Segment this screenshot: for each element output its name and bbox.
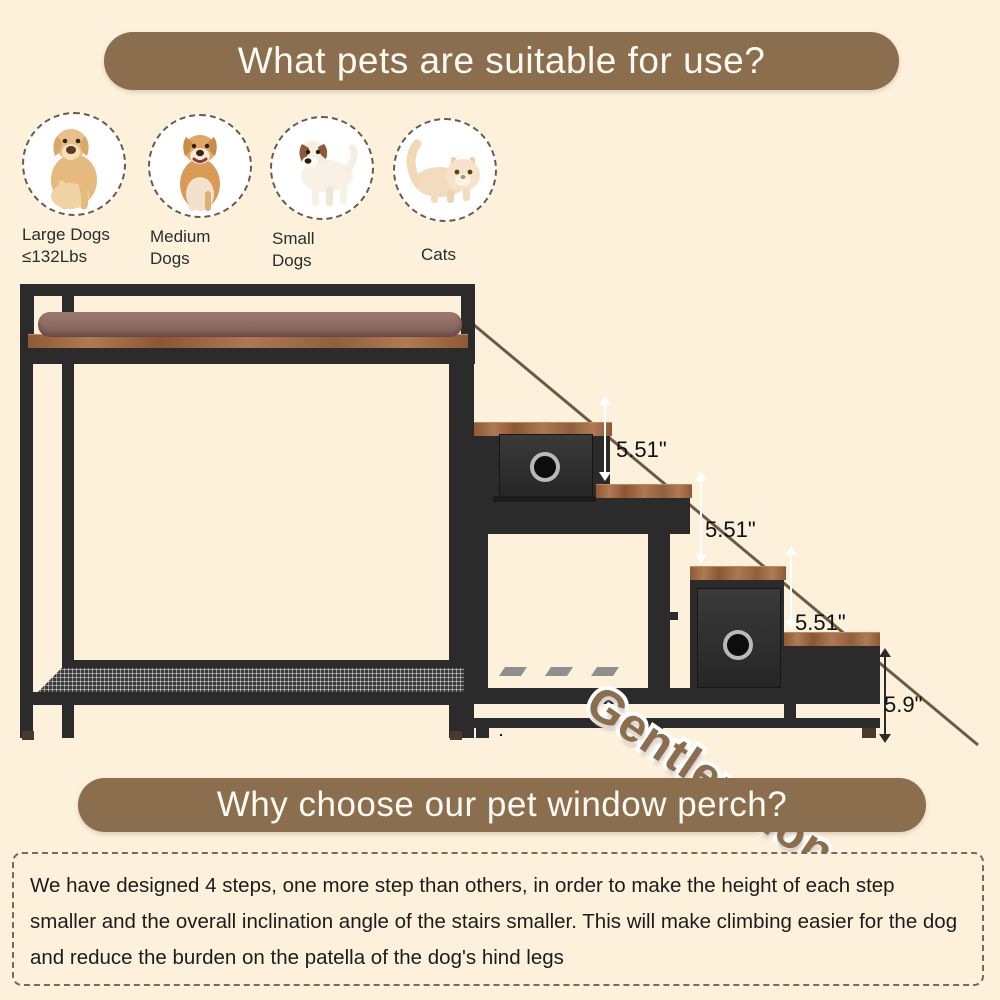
bed-foot-left (22, 731, 34, 740)
cabinet-slat-a (499, 667, 527, 676)
cat-photo-icon (393, 118, 497, 222)
dim2-arrow-down-icon (695, 554, 707, 563)
drawer-upper-handle-icon (530, 452, 560, 482)
dim3-arrow-up-icon (785, 546, 797, 555)
large-dog-photo-icon (22, 112, 126, 216)
bed-mesh-shelf (36, 668, 464, 694)
top-banner-title: What pets are suitable for use? (238, 40, 766, 82)
bed-top-rail-top (20, 284, 475, 296)
product-illustration: 5.51" 5.51" 5.51" 5.9" Gentler slopes Ge… (0, 282, 1000, 762)
stairs-base-rail (474, 688, 880, 704)
dim4-arrow-down-icon (879, 734, 891, 743)
dim3-label: 5.51" (795, 610, 846, 636)
medium-dog-photo-icon (148, 114, 252, 218)
pet-card-medium-dogs: Medium Dogs (148, 114, 252, 270)
pet-card-label: Cats (421, 244, 497, 266)
drawer-lower-handle-icon (723, 630, 753, 660)
step4-riser-body (784, 640, 880, 692)
drawer-upper-base-rail (493, 496, 597, 502)
top-banner: What pets are suitable for use? (104, 32, 899, 90)
pet-card-label: Large Dogs ≤132Lbs (22, 224, 126, 268)
pet-card-small-dogs: Small Dogs (270, 116, 374, 272)
bottom-banner: Why choose our pet window perch? (78, 778, 926, 832)
dim2-line (700, 480, 702, 558)
step3-tread (690, 566, 786, 580)
bed-platform-beam (20, 348, 475, 364)
bed-post-front-left (20, 348, 33, 738)
dim1-arrow-up-icon (599, 396, 611, 405)
bottom-banner-title: Why choose our pet window perch? (217, 785, 787, 825)
large-dog-silhouette (24, 114, 124, 214)
step1-storage-drawer (500, 734, 502, 736)
bed-shelf-frame-back (62, 660, 474, 669)
dim1-line (604, 404, 606, 474)
dim3-line (790, 554, 792, 624)
dim4-label: 5.9" (884, 692, 922, 718)
dim4-arrow-up-icon (879, 648, 891, 657)
pet-card-label: Medium Dogs (150, 226, 252, 270)
infographic-canvas: What pets are suitable for use? (0, 0, 1000, 1000)
pet-card-large-dogs: Large Dogs ≤132Lbs (22, 112, 126, 268)
cat-silhouette (395, 120, 495, 220)
bed-shelf-frame-front (20, 692, 474, 705)
stairs-cabinet-inner-shelf (648, 612, 678, 620)
step2-tread (596, 484, 692, 498)
bed-cushion (38, 312, 462, 337)
pet-card-cats: Cats (393, 118, 497, 266)
stairs-cabinet-frame-left (474, 522, 488, 692)
description-text: We have designed 4 steps, one more step … (30, 868, 966, 976)
description-box: We have designed 4 steps, one more step … (12, 852, 984, 986)
dim2-arrow-up-icon (695, 472, 707, 481)
cabinet-slat-b (545, 667, 573, 676)
small-dog-photo-icon (270, 116, 374, 220)
dim2-label: 5.51" (705, 517, 756, 543)
medium-dog-silhouette (150, 116, 250, 216)
pet-card-label: Small Dogs (272, 228, 374, 272)
stairs-base-leg-a (784, 694, 796, 724)
small-dog-silhouette (272, 118, 372, 218)
dim1-label: 5.51" (616, 437, 667, 463)
bed-foot-right (450, 731, 462, 740)
dim1-arrow-down-icon (599, 472, 611, 481)
pet-suitability-row: Large Dogs ≤132Lbs (0, 112, 1000, 277)
cabinet-slat-c (591, 667, 619, 676)
